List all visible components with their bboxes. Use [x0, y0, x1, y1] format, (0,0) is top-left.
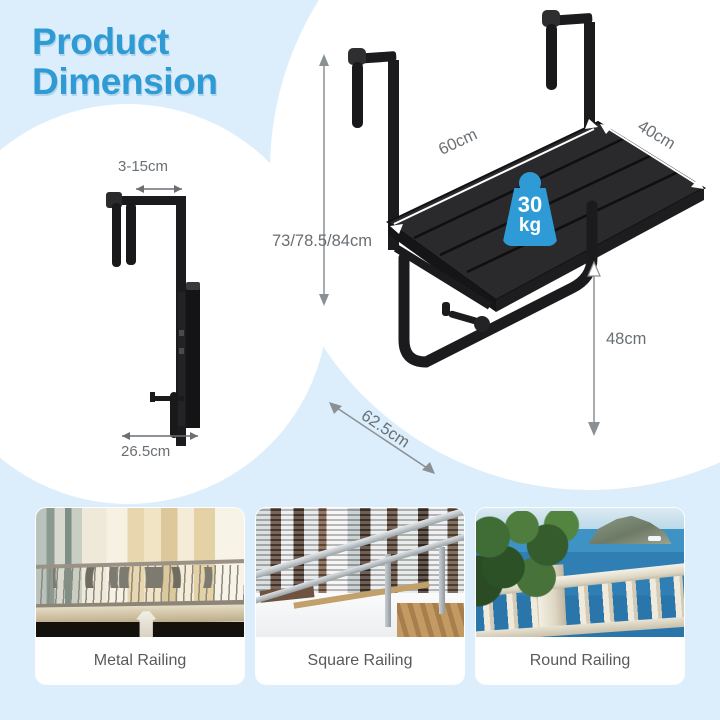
- dimension-folded-depth: 26.5cm: [121, 443, 170, 460]
- card-caption: Metal Railing: [36, 637, 244, 684]
- photo-round-railing: [476, 508, 684, 637]
- assembled-perspective-view: 73/78.5/84cm 60cm 40cm 48cm 62.5cm: [300, 10, 720, 500]
- railing-post-left: [385, 554, 391, 626]
- metal-scrollwork: [53, 567, 228, 588]
- railing-type-cards: Metal Railing Square Railing: [0, 508, 720, 720]
- wood-floor: [397, 603, 464, 637]
- railing-post-right: [439, 547, 445, 614]
- card-square-railing[interactable]: Square Railing: [256, 508, 464, 684]
- weight-value: 30: [502, 194, 558, 216]
- card-metal-railing[interactable]: Metal Railing: [36, 508, 244, 684]
- card-round-railing[interactable]: Round Railing: [476, 508, 684, 684]
- page-title: Product Dimension: [32, 22, 218, 101]
- foliage: [476, 511, 580, 612]
- photo-square-railing: [256, 508, 464, 637]
- weight-unit: kg: [502, 216, 558, 235]
- card-caption: Round Railing: [476, 637, 684, 684]
- weight-capacity-label: 30 kg: [502, 194, 558, 235]
- dimension-total-height: 73/78.5/84cm: [272, 232, 372, 251]
- weight-capacity-badge: 30 kg: [502, 172, 558, 246]
- dimension-lower-height: 48cm: [606, 330, 646, 349]
- product-dimension-infographic: Product Dimension: [0, 0, 720, 720]
- boat: [648, 536, 661, 541]
- photo-metal-railing: [36, 508, 244, 637]
- card-caption: Square Railing: [256, 637, 464, 684]
- dimension-clamp-opening: 3-15cm: [118, 158, 168, 175]
